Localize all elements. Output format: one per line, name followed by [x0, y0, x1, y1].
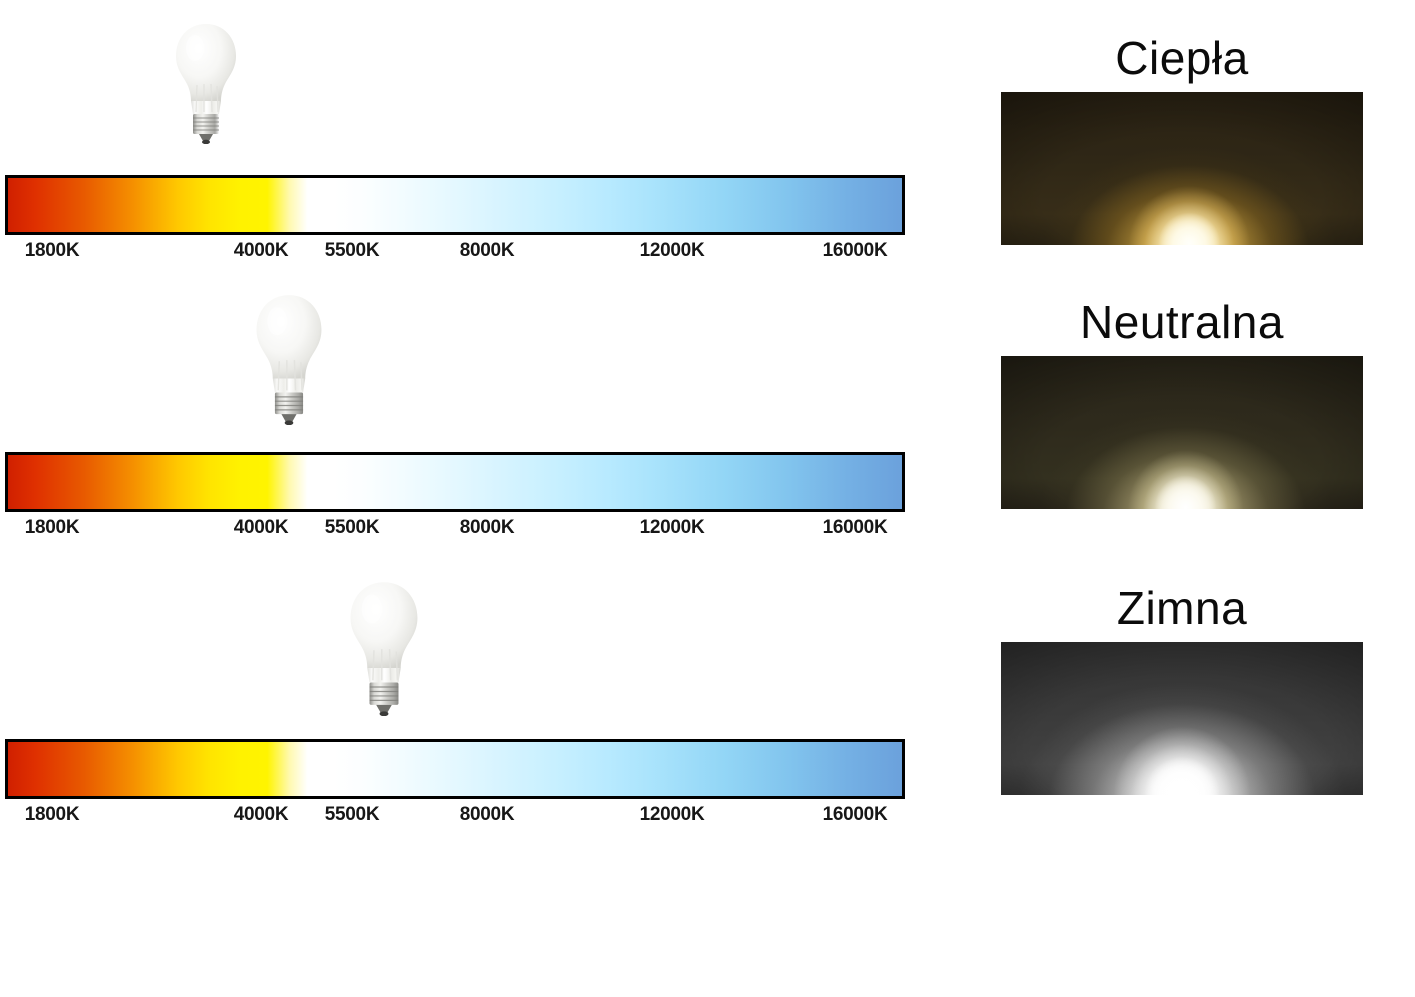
tick-label-16000k: 16000K: [823, 240, 888, 262]
tick-label-1800k: 1800K: [25, 517, 80, 539]
warm-light-glow-photo: [1001, 92, 1363, 245]
tick-label-1800k: 1800K: [25, 804, 80, 826]
tick-label-8000k: 8000K: [460, 517, 515, 539]
tick-label-16000k: 16000K: [823, 517, 888, 539]
photo-vignette-layer: [1001, 356, 1363, 509]
temperature-gradient-bar: [5, 452, 905, 512]
bulb-warm: [172, 22, 240, 144]
temperature-gradient-bar: [5, 175, 905, 235]
tick-label-12000k: 12000K: [640, 804, 705, 826]
tick-label-12000k: 12000K: [640, 517, 705, 539]
tick-label-4000k: 4000K: [234, 240, 289, 262]
tick-label-8000k: 8000K: [460, 804, 515, 826]
sample-title-warm: Ciepła: [1001, 30, 1363, 86]
tick-label-4000k: 4000K: [234, 804, 289, 826]
tick-label-5500k: 5500K: [325, 517, 380, 539]
sample-title-neutral: Neutralna: [1001, 294, 1363, 350]
photo-vignette-layer: [1001, 92, 1363, 245]
temperature-gradient-bar: [5, 739, 905, 799]
temperature-tick-labels: 1800K 4000K 5500K 8000K 12000K 16000K: [0, 804, 920, 830]
temperature-tick-labels: 1800K 4000K 5500K 8000K 12000K 16000K: [0, 240, 920, 266]
tick-label-12000k: 12000K: [640, 240, 705, 262]
sample-title-cold: Zimna: [1001, 580, 1363, 636]
sample-warm: Ciepła: [1001, 30, 1363, 245]
temperature-tick-labels: 1800K 4000K 5500K 8000K 12000K 16000K: [0, 517, 920, 543]
tick-label-16000k: 16000K: [823, 804, 888, 826]
sample-cold: Zimna: [1001, 580, 1363, 795]
sample-neutral: Neutralna: [1001, 294, 1363, 509]
tick-label-8000k: 8000K: [460, 240, 515, 262]
color-temperature-infographic: 1800K 4000K 5500K 8000K 12000K 16000K: [0, 0, 1415, 997]
tick-label-1800k: 1800K: [25, 240, 80, 262]
photo-vignette-layer: [1001, 642, 1363, 795]
neutral-light-glow-photo: [1001, 356, 1363, 509]
bulb-cold: [346, 580, 422, 716]
tick-label-4000k: 4000K: [234, 517, 289, 539]
tick-label-5500k: 5500K: [325, 240, 380, 262]
tick-label-5500k: 5500K: [325, 804, 380, 826]
cold-light-glow-photo: [1001, 642, 1363, 795]
bulb-neutral: [252, 293, 326, 425]
